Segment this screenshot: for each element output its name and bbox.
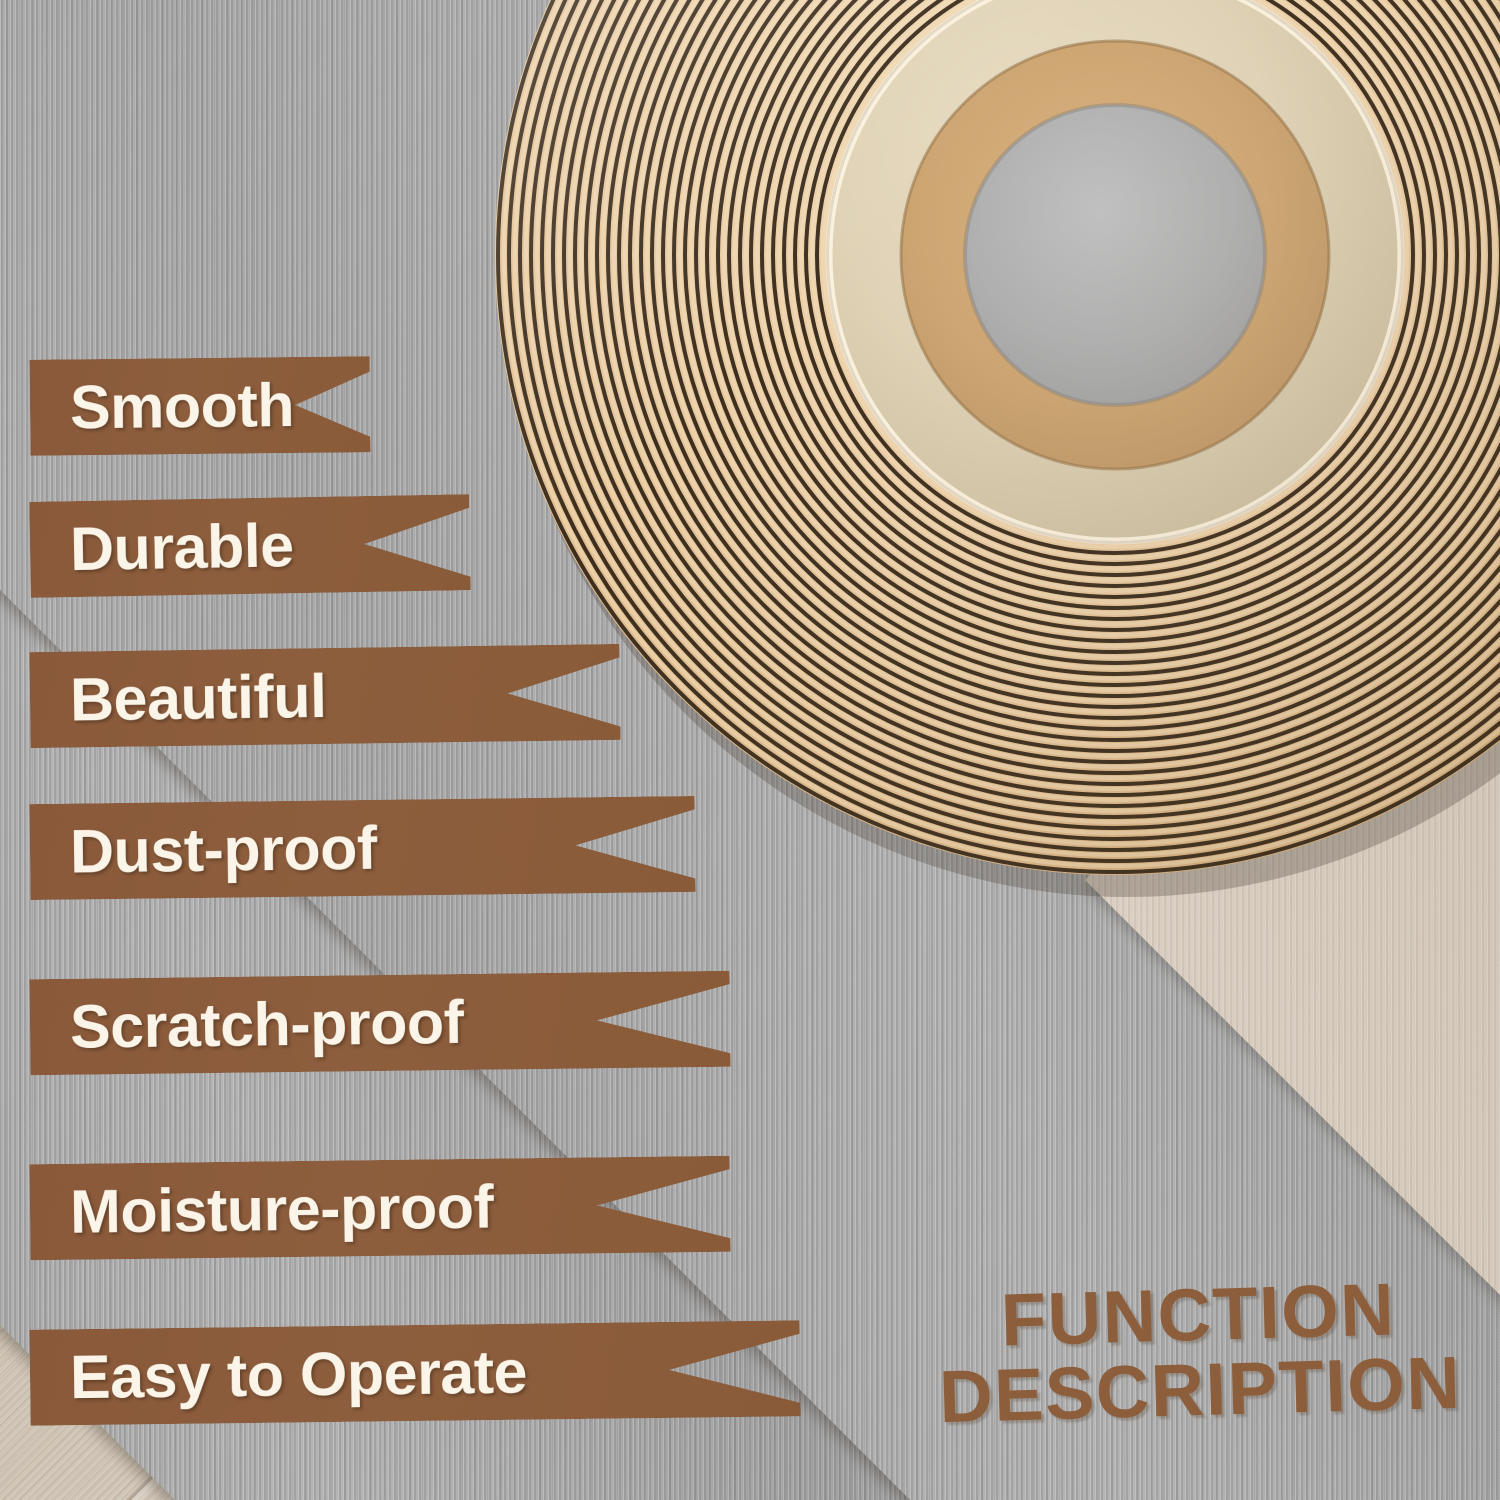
feature-ribbon-dust-proof: Dust-proof (29, 796, 695, 900)
feature-ribbon-smooth: Smooth (30, 356, 371, 456)
feature-label: Easy to Operate (70, 1337, 528, 1413)
heading-line-2: DESCRIPTION (938, 1345, 1462, 1435)
feature-ribbon-moisture-proof: Moisture-proof (29, 1156, 730, 1261)
feature-ribbon-scratch-proof: Scratch-proof (29, 971, 730, 1076)
feature-ribbon-easy-to-operate: Easy to Operate (29, 1320, 800, 1425)
feature-ribbon-durable: Durable (29, 494, 471, 598)
function-description-heading: FUNCTION DESCRIPTION (936, 1270, 1462, 1435)
feature-ribbon-list: Smooth Durable Beautiful Dust-proof Scra… (0, 0, 900, 1500)
product-feature-image: Smooth Durable Beautiful Dust-proof Scra… (0, 0, 1500, 1500)
feature-label: Scratch-proof (70, 987, 464, 1062)
feature-label: Beautiful (70, 661, 327, 735)
feature-label: Smooth (70, 370, 295, 442)
feature-label: Moisture-proof (70, 1172, 494, 1247)
feature-label: Durable (69, 510, 294, 584)
feature-ribbon-beautiful: Beautiful (29, 644, 620, 748)
feature-label: Dust-proof (70, 813, 378, 887)
